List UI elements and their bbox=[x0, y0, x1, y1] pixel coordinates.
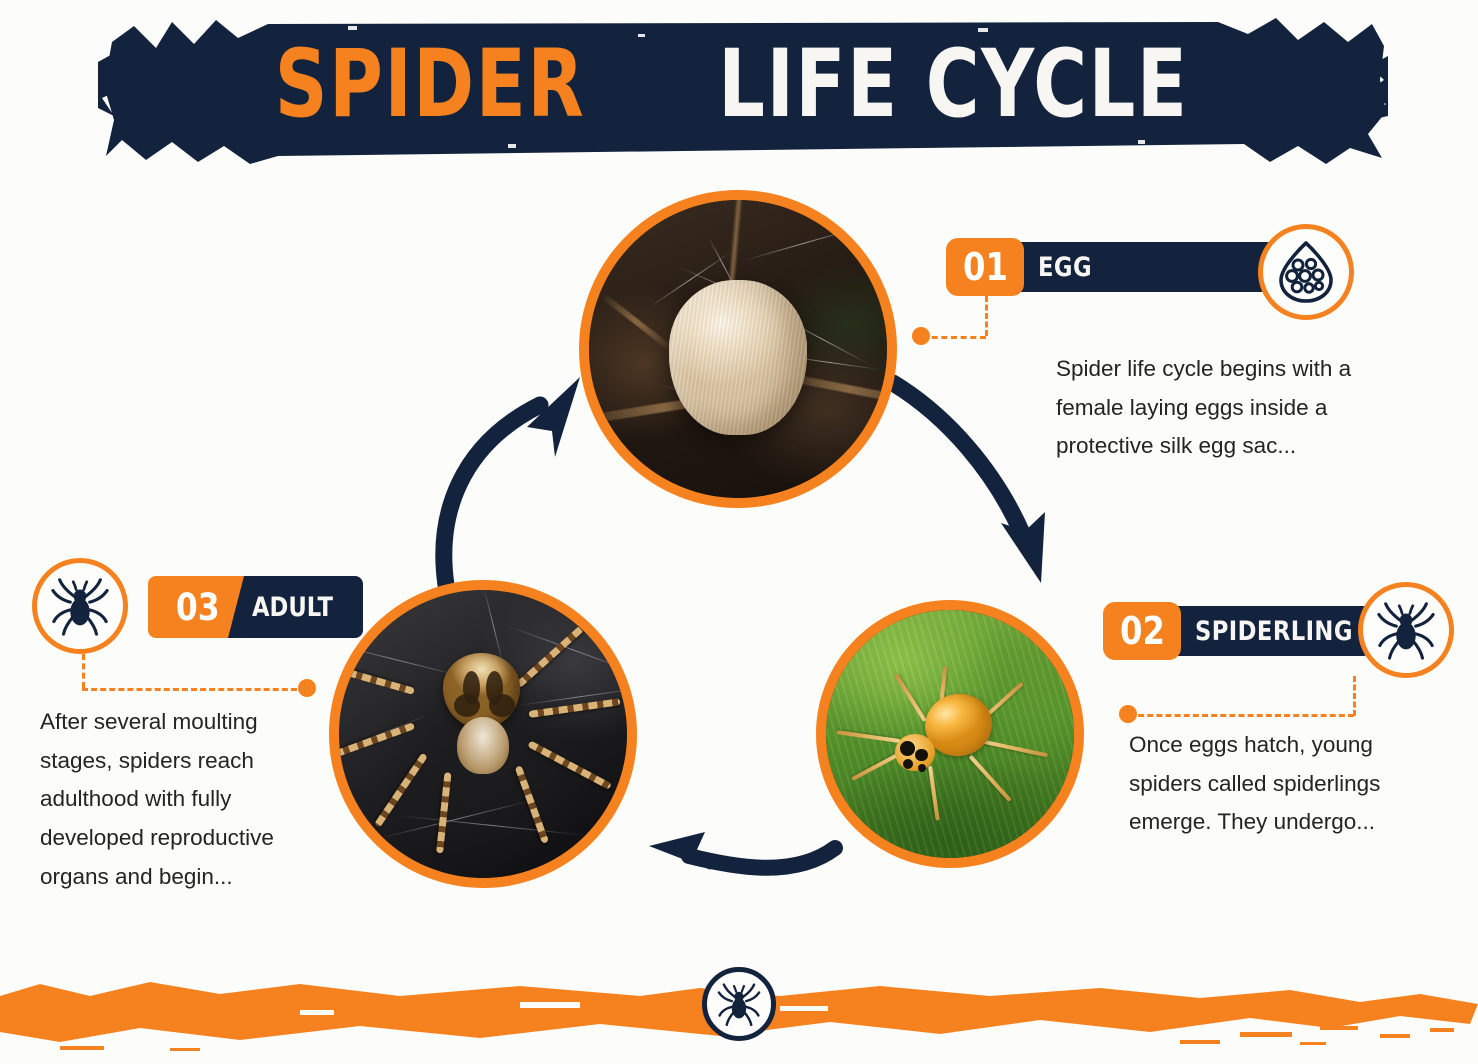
step-adult-connector-dot bbox=[298, 679, 316, 697]
title-banner: SPIDER LIFE CYCLE bbox=[98, 8, 1388, 168]
step-spiderling-connector-vertical bbox=[1353, 676, 1356, 716]
arrow-spiderling-to-adult bbox=[645, 812, 845, 898]
infographic-canvas: SPIDER LIFE CYCLE bbox=[0, 0, 1478, 1064]
step-number-badge-03: 03 bbox=[162, 586, 234, 628]
step-name-bar-adult: ADULT bbox=[252, 588, 348, 626]
step-number-badge-02: 02 bbox=[1103, 602, 1181, 660]
step-number-badge-01: 01 bbox=[946, 238, 1024, 296]
step-adult-description: After several moulting stages, spiders r… bbox=[40, 703, 308, 896]
spider-icon-glyph bbox=[716, 981, 762, 1027]
egg-sac-icon-glyph bbox=[1276, 240, 1336, 304]
spider-icon-glyph bbox=[1375, 599, 1437, 661]
step-adult-label-row: 03 ADULT bbox=[148, 576, 363, 638]
egg-sac-icon bbox=[1258, 224, 1354, 320]
step-card-spiderling: 02 SPIDERLING bbox=[1103, 602, 1478, 660]
step-egg-description: Spider life cycle begins with a female l… bbox=[1056, 350, 1386, 466]
adult-spider-icon bbox=[32, 558, 128, 654]
step-egg-connector-vertical bbox=[985, 296, 988, 336]
adult-stage-photo bbox=[329, 580, 637, 888]
step-spiderling-connector-dot bbox=[1119, 705, 1137, 723]
title-word-spider: SPIDER bbox=[275, 38, 586, 132]
step-card-egg: 01 EGG Spider life cycle begins with bbox=[946, 238, 1376, 296]
egg-stage-photo bbox=[579, 190, 897, 508]
step-egg-connector-horizontal bbox=[922, 336, 986, 339]
step-name-bar-spiderling: SPIDERLING bbox=[1161, 606, 1371, 656]
step-adult-connector-vertical bbox=[82, 654, 85, 688]
step-adult-connector-horizontal bbox=[82, 688, 306, 691]
spider-icon-glyph bbox=[49, 575, 111, 637]
step-egg-connector-dot bbox=[912, 327, 930, 345]
arrow-egg-to-spiderling bbox=[885, 365, 1085, 590]
footer-spider-badge bbox=[702, 967, 776, 1041]
step-spiderling-connector-horizontal bbox=[1129, 714, 1354, 717]
title-word-life-cycle: LIFE CYCLE bbox=[718, 38, 1188, 132]
step-spiderling-description: Once eggs hatch, young spiders called sp… bbox=[1129, 726, 1449, 842]
spiderling-stage-photo bbox=[816, 600, 1084, 868]
spiderling-spider-icon bbox=[1358, 582, 1454, 678]
